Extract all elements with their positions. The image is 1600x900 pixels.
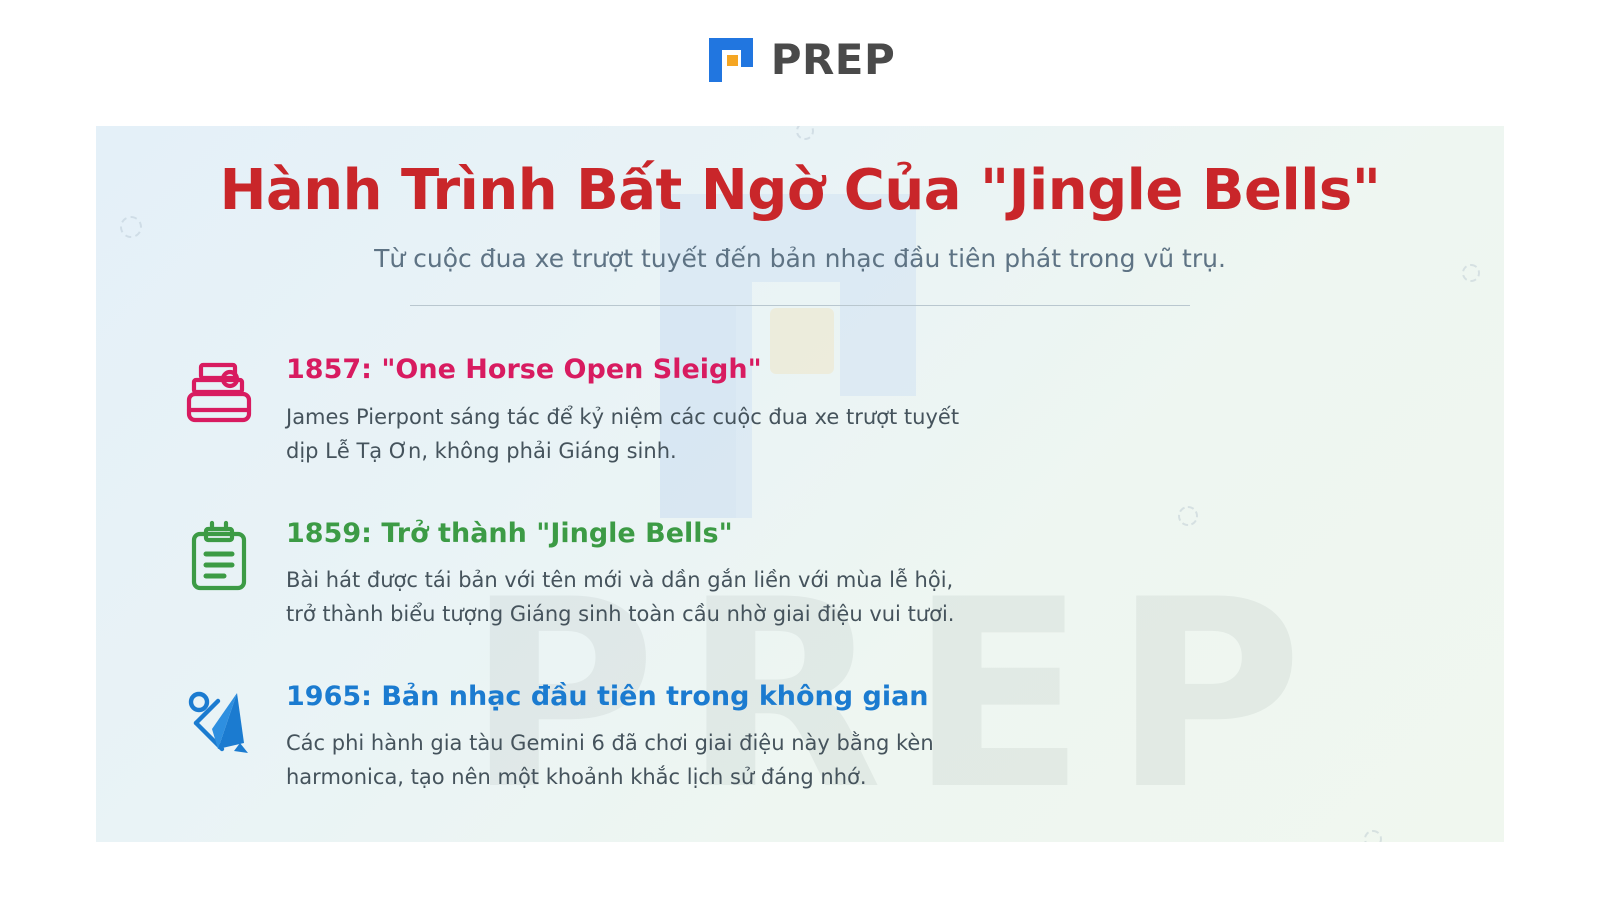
title-divider	[410, 305, 1190, 306]
timeline-item: 1965: Bản nhạc đầu tiên trong không gian…	[176, 677, 1444, 794]
card-content: Hành Trình Bất Ngờ Của "Jingle Bells" Từ…	[96, 126, 1504, 794]
page-title: Hành Trình Bất Ngờ Của "Jingle Bells"	[156, 160, 1444, 223]
page-subtitle: Từ cuộc đua xe trượt tuyết đến bản nhạc …	[156, 243, 1444, 276]
timeline-list: 1857: "One Horse Open Sleigh" James Pier…	[156, 350, 1444, 794]
timeline-item-description: James Pierpont sáng tác để kỷ niệm các c…	[286, 400, 959, 468]
decorative-ring-icon	[1364, 830, 1382, 842]
rocket-pen-icon	[176, 677, 262, 763]
prep-logo-icon	[705, 34, 757, 86]
timeline-item-description: Các phi hành gia tàu Gemini 6 đã chơi gi…	[286, 726, 934, 794]
clipboard-icon	[176, 514, 262, 600]
timeline-item-title: 1857: "One Horse Open Sleigh"	[286, 354, 959, 386]
timeline-item-title: 1965: Bản nhạc đầu tiên trong không gian	[286, 681, 934, 713]
timeline-item-title: 1859: Trở thành "Jingle Bells"	[286, 518, 954, 550]
timeline-item-body: 1965: Bản nhạc đầu tiên trong không gian…	[286, 677, 934, 794]
timeline-item: 1859: Trở thành "Jingle Bells" Bài hát đ…	[176, 514, 1444, 631]
stacked-books-icon	[176, 350, 262, 436]
page-root: PREP PREP Hành Trình Bất Ngờ Của "Jingle…	[0, 0, 1600, 900]
content-card: PREP Hành Trình Bất Ngờ Của "Jingle Bell…	[96, 126, 1504, 842]
timeline-item-body: 1859: Trở thành "Jingle Bells" Bài hát đ…	[286, 514, 954, 631]
brand-header: PREP	[0, 0, 1600, 120]
timeline-item-body: 1857: "One Horse Open Sleigh" James Pier…	[286, 350, 959, 467]
timeline-item: 1857: "One Horse Open Sleigh" James Pier…	[176, 350, 1444, 467]
brand-wordmark: PREP	[771, 39, 896, 81]
timeline-item-description: Bài hát được tái bản với tên mới và dần …	[286, 563, 954, 631]
